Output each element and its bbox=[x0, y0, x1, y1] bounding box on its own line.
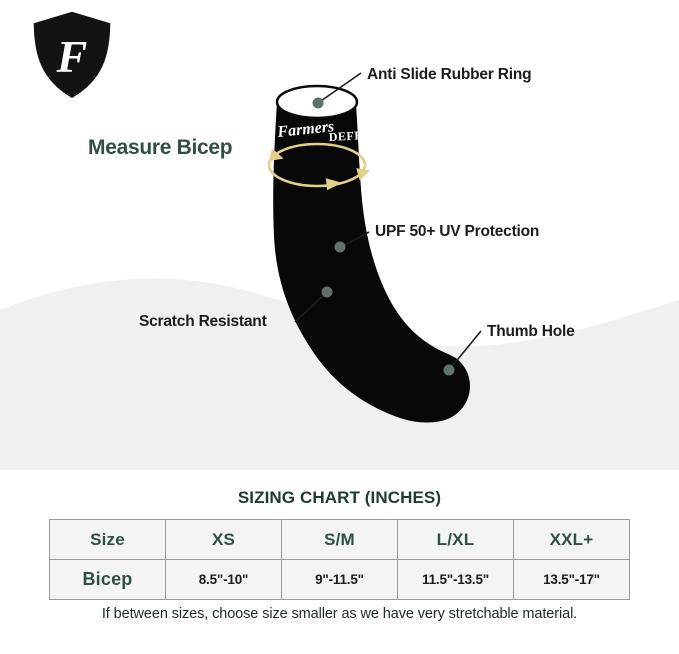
annotation-measure-bicep: Measure Bicep bbox=[88, 136, 232, 160]
sizing-chart-title: SIZING CHART (INCHES) bbox=[0, 488, 679, 508]
header-cell-xs: XS bbox=[166, 520, 282, 560]
dot-anti-slide bbox=[313, 98, 324, 109]
sleeve-brand-block: DEFENSE bbox=[328, 127, 388, 144]
header-cell-xxl: XXL+ bbox=[514, 520, 630, 560]
leader-thumb bbox=[449, 331, 481, 370]
cell-bicep-xxl: 13.5"-17" bbox=[514, 560, 630, 600]
annotation-anti-slide-rubber-ring: Anti Slide Rubber Ring bbox=[367, 66, 531, 84]
arm-sleeve-illustration: Farmers DEFENSE bbox=[0, 0, 679, 470]
table-row: Bicep 8.5"-10" 9"-11.5" 11.5"-13.5" 13.5… bbox=[50, 560, 630, 600]
cell-bicep-sm: 9"-11.5" bbox=[282, 560, 398, 600]
product-infographic: F Farmers DEFENSE bbox=[0, 0, 679, 654]
header-cell-lxl: L/XL bbox=[398, 520, 514, 560]
annotation-upf-protection: UPF 50+ UV Protection bbox=[375, 223, 539, 241]
annotation-scratch-resistant: Scratch Resistant bbox=[139, 313, 267, 331]
cell-bicep-lxl: 11.5"-13.5" bbox=[398, 560, 514, 600]
sizing-footnote: If between sizes, choose size smaller as… bbox=[0, 606, 679, 622]
annotation-thumb-hole: Thumb Hole bbox=[487, 323, 575, 341]
table-header-row: Size XS S/M L/XL XXL+ bbox=[50, 520, 630, 560]
row-label-bicep: Bicep bbox=[50, 560, 166, 600]
header-cell-sm: S/M bbox=[282, 520, 398, 560]
cell-bicep-xs: 8.5"-10" bbox=[166, 560, 282, 600]
dot-upf bbox=[335, 242, 346, 253]
dot-scratch bbox=[322, 287, 333, 298]
header-cell-size: Size bbox=[50, 520, 166, 560]
sizing-chart-table: Size XS S/M L/XL XXL+ Bicep 8.5"-10" 9"-… bbox=[49, 519, 630, 600]
dot-thumb bbox=[444, 365, 455, 376]
